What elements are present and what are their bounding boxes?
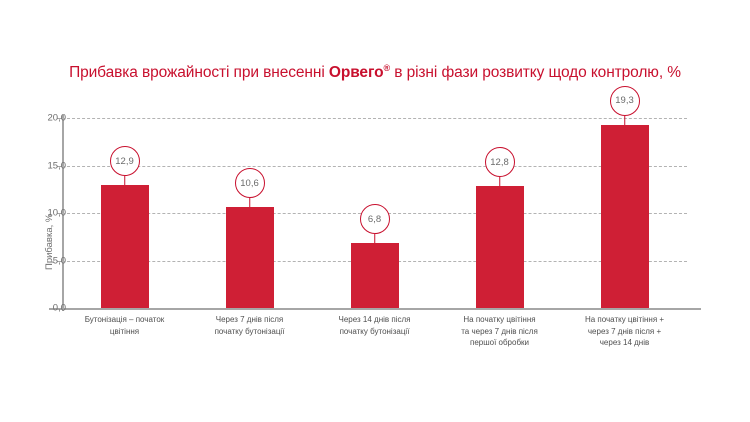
bar-1-value-bubble: 12,9 <box>110 146 140 176</box>
bar-4[interactable] <box>476 186 524 308</box>
y-tick-label-0: 0,0 <box>24 303 66 314</box>
category-labels: Бутонізація – початокцвітіння Через 7 дн… <box>62 314 687 374</box>
bar-1[interactable] <box>101 185 149 308</box>
category-label-5: На початку цвітіння +через 7 днів після … <box>562 314 687 349</box>
chart-title: Прибавка врожайності при внесенні Орвего… <box>0 63 750 82</box>
bar-2-stem <box>249 198 251 207</box>
bar-group-1[interactable]: 12,9 <box>62 118 187 308</box>
bar-2-value-bubble: 10,6 <box>235 168 265 198</box>
y-tick-label-10: 10,0 <box>24 208 66 219</box>
y-tick-label-5: 5,0 <box>24 255 66 266</box>
bar-2[interactable] <box>226 207 274 308</box>
yield-increase-bar-chart: Прибавка врожайності при внесенні Орвего… <box>0 0 750 422</box>
category-label-3: Через 14 днів післяпочатку бутонізації <box>312 314 437 337</box>
bars-layer: 12,9 10,6 6,8 12,8 19,3 <box>62 118 687 308</box>
bar-3-stem <box>374 234 376 243</box>
category-label-2: Через 7 днів післяпочатку бутонізації <box>187 314 312 337</box>
category-label-1: Бутонізація – початокцвітіння <box>62 314 187 337</box>
category-label-4: На початку цвітіннята через 7 днів після… <box>437 314 562 349</box>
y-tick-label-15: 15,0 <box>24 160 66 171</box>
bar-4-value-bubble: 12,8 <box>485 147 515 177</box>
chart-title-suffix: в різні фази розвитку щодо контролю, % <box>390 64 681 81</box>
bar-5[interactable] <box>601 125 649 308</box>
x-axis-line <box>49 308 701 310</box>
bar-group-5[interactable]: 19,3 <box>562 118 687 308</box>
bar-4-stem <box>499 177 501 186</box>
bar-1-stem <box>124 176 126 185</box>
bar-3[interactable] <box>351 243 399 308</box>
bar-group-4[interactable]: 12,8 <box>437 118 562 308</box>
bar-group-3[interactable]: 6,8 <box>312 118 437 308</box>
bar-group-2[interactable]: 10,6 <box>187 118 312 308</box>
chart-title-brand: Орвего <box>329 64 384 81</box>
bar-5-stem <box>624 116 626 125</box>
y-tick-label-20: 20,0 <box>24 113 66 124</box>
chart-title-prefix: Прибавка врожайності при внесенні <box>69 64 329 81</box>
bar-3-value-bubble: 6,8 <box>360 204 390 234</box>
bar-5-value-bubble: 19,3 <box>610 86 640 116</box>
